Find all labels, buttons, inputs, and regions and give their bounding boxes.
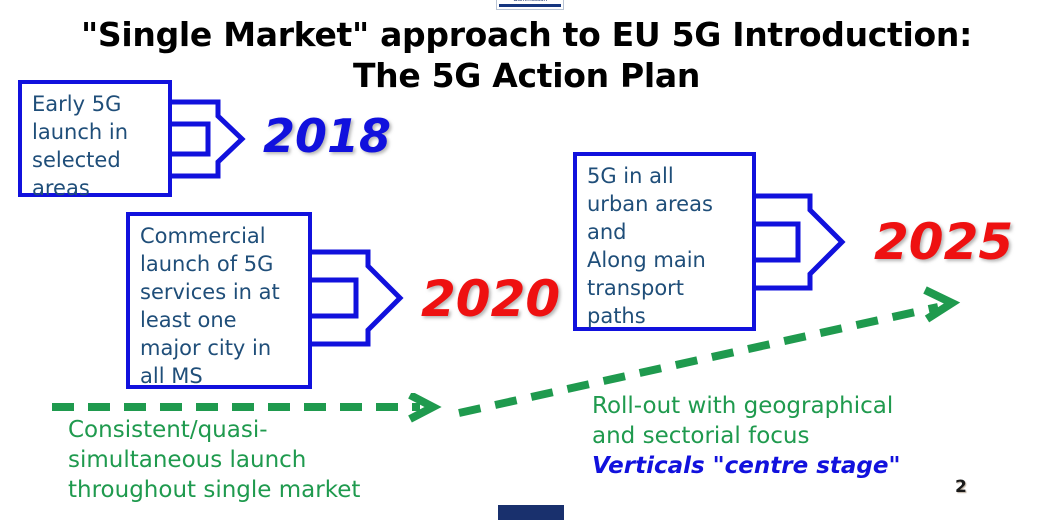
milestone-year-2025: 2025	[874, 219, 1013, 265]
page-number: 2	[955, 477, 967, 497]
milestone-year-2018: 2018	[263, 113, 391, 159]
caption-rollout-focus: Roll-out with geographical and sectorial…	[592, 391, 893, 451]
milestone-year-2020: 2020	[421, 276, 560, 322]
page-title-line-1: "Single Market" approach to EU 5G Introd…	[0, 14, 1053, 55]
block-arrow-right-icon-2020	[300, 246, 428, 350]
caption-consistent-launch: Consistent/quasi- simultaneous launch th…	[68, 415, 360, 505]
block-arrow-right-icon-2025	[744, 190, 870, 294]
european-commission-logo: Commission	[496, 0, 564, 10]
block-arrow-right-icon-2018	[160, 96, 268, 182]
logo-rule	[499, 4, 561, 7]
caption-verticals-centre-stage: Verticals "centre stage"	[592, 451, 900, 481]
milestone-box-2025: 5G in all urban areas and Along main tra…	[573, 152, 756, 331]
slide-canvas: Commission "Single Market" approach to E…	[0, 0, 1053, 520]
footer-bar	[498, 505, 564, 520]
milestone-box-2018: Early 5G launch in selected areas	[18, 80, 172, 197]
logo-word: Commission	[497, 0, 563, 3]
milestone-box-2020: Commercial launch of 5G services in at l…	[126, 212, 312, 389]
